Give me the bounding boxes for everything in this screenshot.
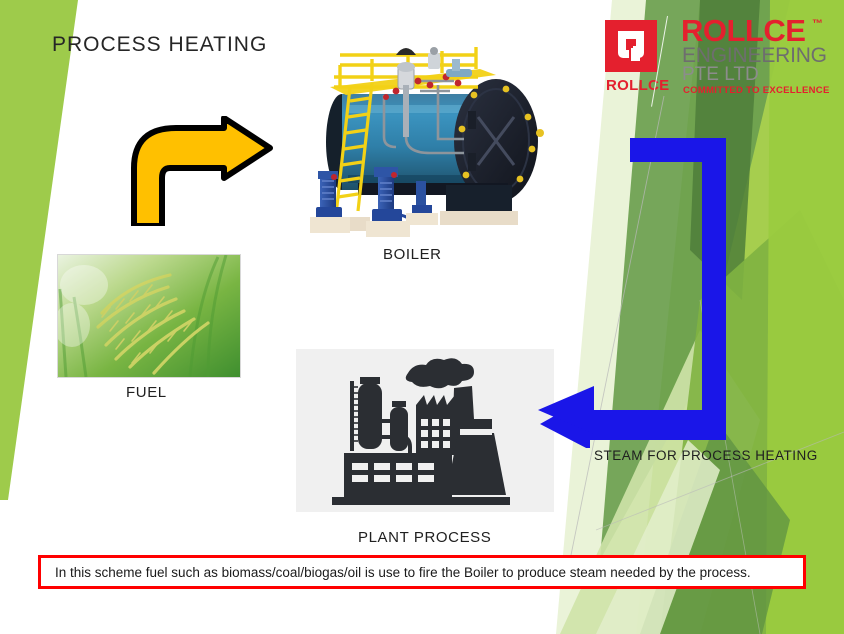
plant-process-image: [296, 349, 554, 512]
logo-company-name: ROLLCE: [681, 16, 805, 46]
boiler-saddle-right: [440, 211, 518, 225]
blue-steam-arrow: [534, 138, 734, 448]
yellow-elbow-arrow: [128, 116, 276, 226]
left-green-wedge: [0, 0, 78, 500]
right-facet-pale-3: [596, 440, 720, 634]
company-logo: ROLLCE ROLLCE ™ ENGINEERING PTE LTD COMM…: [605, 20, 837, 104]
caption-text: In this scheme fuel such as biomass/coal…: [41, 565, 751, 580]
logo-trademark-symbol: ™: [812, 18, 823, 30]
page-title: PROCESS HEATING: [52, 33, 267, 57]
logo-subtitle-pteltd: PTE LTD: [682, 65, 759, 84]
logo-subtitle-engineering: ENGINEERING: [682, 45, 827, 66]
logo-mark-square: [605, 20, 657, 72]
slide-canvas: PROCESS HEATING ROLLCE ROLLCE ™ ENGINEER…: [0, 0, 844, 634]
plant-process-label: PLANT PROCESS: [358, 529, 491, 546]
logo-tagline: COMMITTED TO EXCELLENCE: [683, 85, 830, 96]
fuel-label: FUEL: [126, 384, 167, 401]
caption-box: In this scheme fuel such as biomass/coal…: [38, 555, 806, 589]
boiler-label: BOILER: [383, 246, 442, 263]
logo-wordmark: ROLLCE: [606, 77, 669, 94]
rollce-q-glyph-icon: [605, 20, 657, 72]
fuel-image: [57, 254, 241, 378]
steam-arrow-label: STEAM FOR PROCESS HEATING: [594, 448, 818, 463]
boiler-image: [300, 25, 552, 240]
